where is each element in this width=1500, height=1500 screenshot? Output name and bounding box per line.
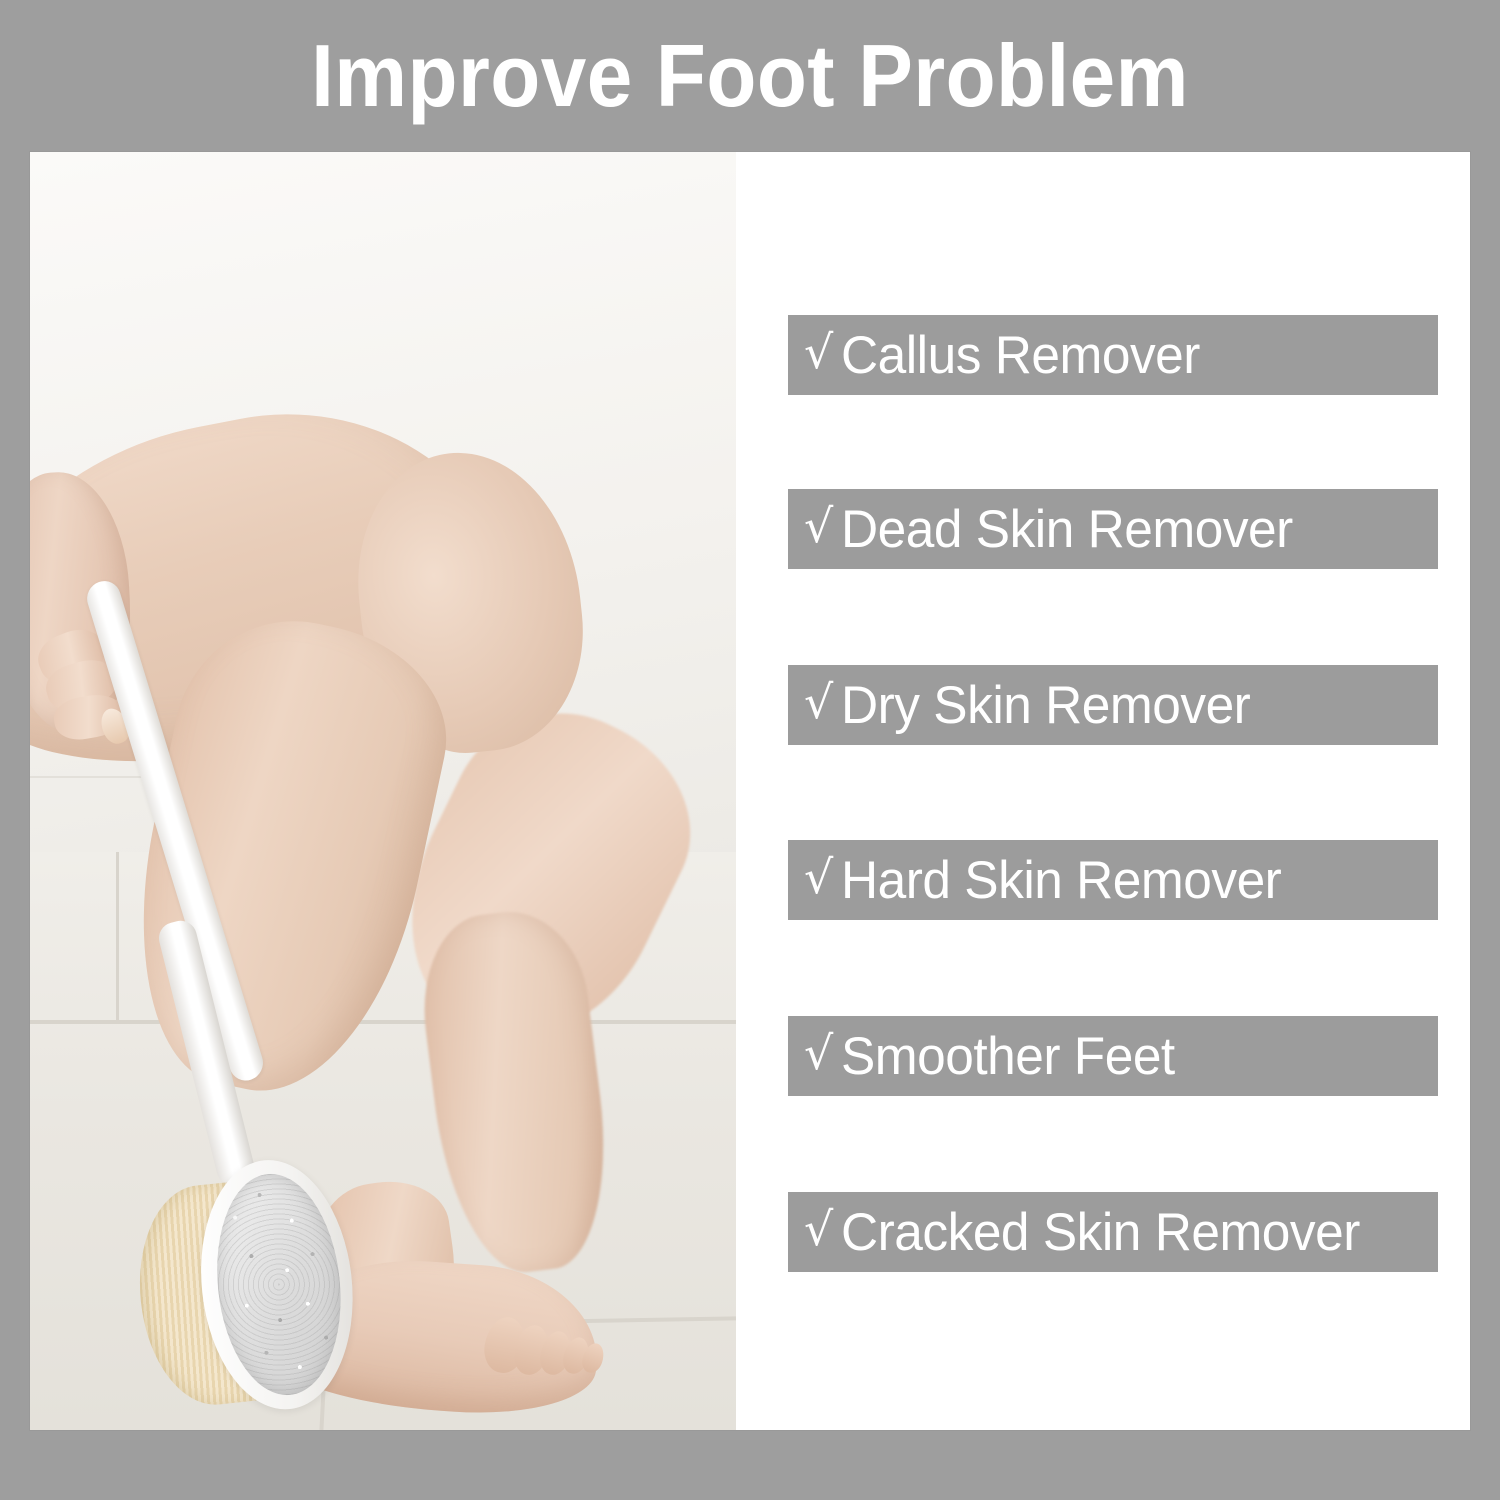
check-icon: √	[804, 329, 833, 375]
check-icon: √	[804, 1206, 833, 1252]
feature-label: Cracked Skin Remover	[841, 1206, 1360, 1259]
feature-label: Hard Skin Remover	[841, 854, 1281, 907]
page-title: Improve Foot Problem	[53, 24, 1448, 128]
feature-item-cracked-skin-remover: √ Cracked Skin Remover	[788, 1192, 1438, 1272]
feature-item-hard-skin-remover: √ Hard Skin Remover	[788, 840, 1438, 920]
check-icon: √	[804, 679, 833, 725]
feature-item-dry-skin-remover: √ Dry Skin Remover	[788, 665, 1438, 745]
check-icon: √	[804, 503, 833, 549]
feature-label: Callus Remover	[841, 329, 1200, 382]
feature-list: √ Callus Remover √ Dead Skin Remover √ D…	[736, 152, 1470, 1430]
check-icon: √	[804, 854, 833, 900]
feature-item-smoother-feet: √ Smoother Feet	[788, 1016, 1438, 1096]
photo-toes	[485, 1317, 605, 1391]
feature-label: Dead Skin Remover	[841, 503, 1293, 556]
feature-label: Dry Skin Remover	[841, 679, 1250, 732]
photo-floor-grout	[30, 1020, 736, 1024]
photo-wall-tile-line	[30, 776, 150, 778]
photo-brush-head	[128, 1151, 383, 1424]
product-feature-graphic: Improve Foot Problem	[0, 0, 1500, 1500]
check-icon: √	[804, 1030, 833, 1076]
product-photo	[30, 152, 736, 1430]
feature-item-dead-skin-remover: √ Dead Skin Remover	[788, 489, 1438, 569]
feature-label: Smoother Feet	[841, 1030, 1175, 1083]
feature-item-callus-remover: √ Callus Remover	[788, 315, 1438, 395]
photo-floor-grout	[116, 852, 119, 1022]
content-card: √ Callus Remover √ Dead Skin Remover √ D…	[30, 152, 1470, 1430]
